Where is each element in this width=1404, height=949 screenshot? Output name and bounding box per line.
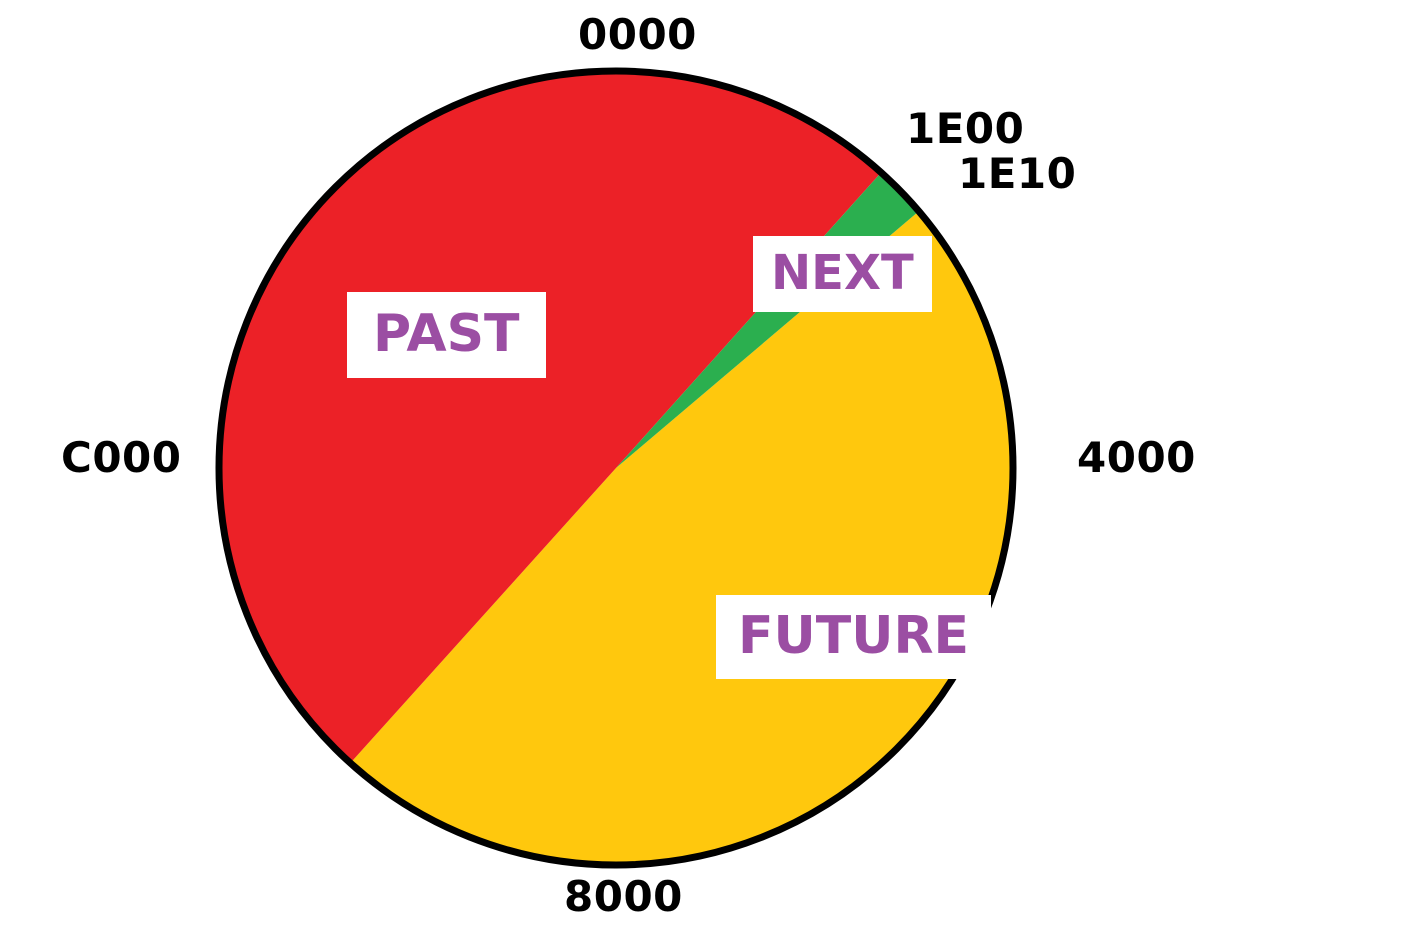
tick-label-C000: C000 xyxy=(61,437,182,479)
tick-label-0000: 0000 xyxy=(578,14,697,56)
tick-label-4000: 4000 xyxy=(1077,437,1196,479)
region-label-future: FUTURE xyxy=(716,595,991,679)
tick-label-1E10: 1E10 xyxy=(958,153,1076,195)
region-label-past: PAST xyxy=(347,292,546,378)
tick-label-8000: 8000 xyxy=(564,876,683,918)
tick-label-1E00: 1E00 xyxy=(906,108,1024,150)
region-label-next: NEXT xyxy=(753,236,932,312)
sector-wheel-diagram: 0000 1E00 1E10 4000 8000 C000 PAST NEXT … xyxy=(0,0,1404,949)
